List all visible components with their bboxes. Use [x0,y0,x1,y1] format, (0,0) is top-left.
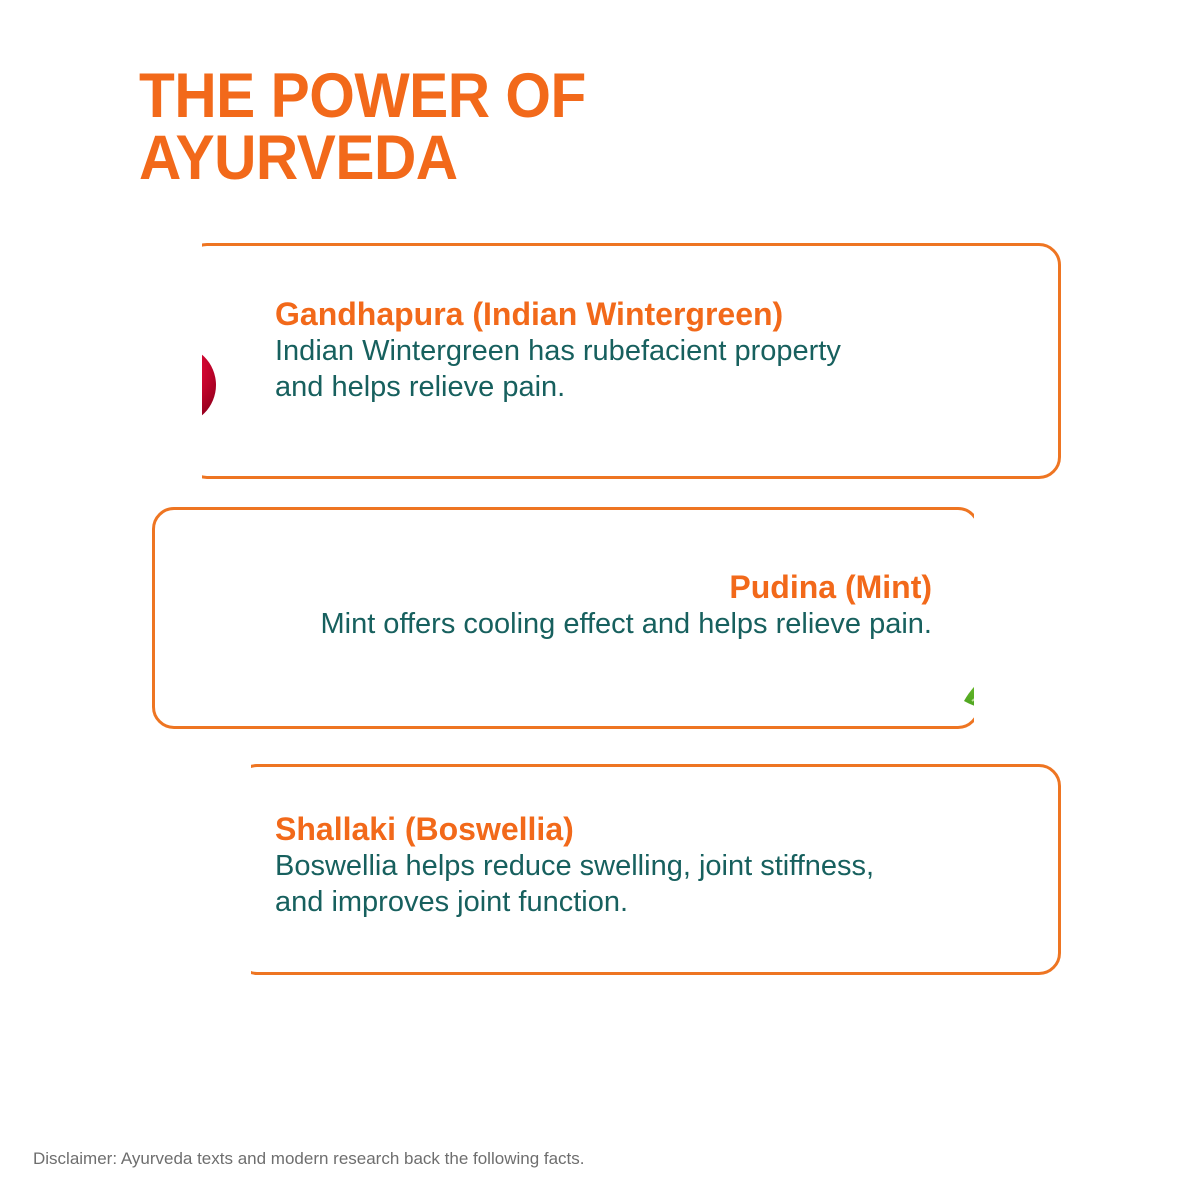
card-gandhapura-heading: Gandhapura (Indian Wintergreen) [275,297,955,332]
card-gandhapura-text: Gandhapura (Indian Wintergreen) Indian W… [275,297,955,405]
wintergreen-berries-image [0,243,255,483]
page-title: THE POWER OF AYURVEDA [139,66,846,189]
mint-leaves-image [938,497,1200,745]
card-pudina-text: Pudina (Mint) Mint offers cooling effect… [232,570,932,643]
image-mask [974,497,1200,745]
infographic-canvas: THE POWER OF AYURVEDA [0,0,1200,1200]
card-pudina-body: Mint offers cooling effect and helps rel… [232,607,932,642]
card-shallaki-body: Boswellia helps reduce swelling, joint s… [275,849,975,920]
image-mask [0,243,202,483]
image-mask [36,762,251,992]
boswellia-resin-image [36,762,266,992]
card-pudina-heading: Pudina (Mint) [232,570,932,605]
card-shallaki-text: Shallaki (Boswellia) Boswellia helps red… [275,812,975,920]
disclaimer-text: Disclaimer: Ayurveda texts and modern re… [33,1148,933,1170]
card-gandhapura-body: Indian Wintergreen has rubefacient prope… [275,334,955,405]
card-shallaki-heading: Shallaki (Boswellia) [275,812,975,847]
